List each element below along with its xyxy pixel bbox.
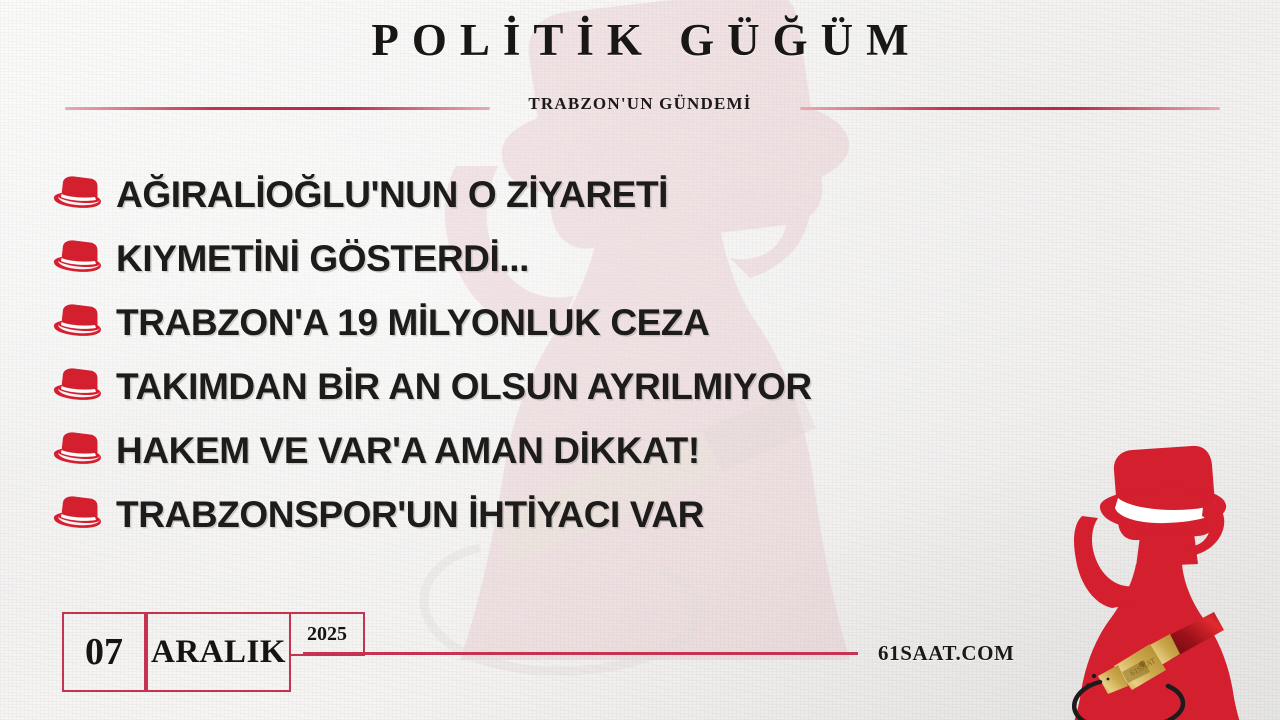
headline-text: TRABZONSPOR'UN İHTİYACI VAR — [116, 496, 704, 533]
date-year: 2025 — [289, 612, 365, 656]
headline-list: AĞIRALİOĞLU'NUN O ZİYARETİ KIYMETİNİ GÖS… — [0, 162, 1050, 546]
headline-text: AĞIRALİOĞLU'NUN O ZİYARETİ — [116, 176, 668, 213]
headline-text: KIYMETİNİ GÖSTERDİ... — [116, 240, 529, 277]
red-hat-icon — [48, 175, 104, 217]
red-hat-icon — [48, 303, 104, 345]
red-hat-icon — [48, 239, 104, 281]
poster-header: POLİTİK GÜĞÜM TRABZON'UN GÜNDEMİ — [0, 0, 1280, 135]
site-url[interactable]: 61SAAT.COM — [878, 641, 1014, 666]
headline-text: HAKEM VE VAR'A AMAN DİKKAT! — [116, 432, 700, 469]
page-subtitle: TRABZON'UN GÜNDEMİ — [0, 94, 1280, 114]
headline-text: TAKIMDAN BİR AN OLSUN AYRILMIYOR — [116, 368, 812, 405]
poster-canvas: POLİTİK GÜĞÜM TRABZON'UN GÜNDEMİ AĞIRALİ… — [0, 0, 1280, 720]
list-item[interactable]: HAKEM VE VAR'A AMAN DİKKAT! — [0, 418, 1050, 482]
headline-text: TRABZON'A 19 MİLYONLUK CEZA — [116, 304, 709, 341]
list-item[interactable]: TRABZON'A 19 MİLYONLUK CEZA — [0, 290, 1050, 354]
red-hat-icon — [48, 495, 104, 537]
subtitle-row: TRABZON'UN GÜNDEMİ — [0, 94, 1280, 124]
date-month: ARALIK — [146, 612, 291, 692]
list-item[interactable]: TRABZONSPOR'UN İHTİYACI VAR — [0, 482, 1050, 546]
red-hat-icon — [48, 431, 104, 473]
gugum-ewer-with-tophat-and-pen-logo: 61SAAT — [1052, 436, 1262, 720]
footer-divider — [303, 652, 858, 655]
ewer-body-group — [1074, 446, 1240, 720]
list-item[interactable]: KIYMETİNİ GÖSTERDİ... — [0, 226, 1050, 290]
page-title: POLİTİK GÜĞÜM — [0, 14, 1280, 66]
list-item[interactable]: TAKIMDAN BİR AN OLSUN AYRILMIYOR — [0, 354, 1050, 418]
date-day: 07 — [62, 612, 146, 692]
list-item[interactable]: AĞIRALİOĞLU'NUN O ZİYARETİ — [0, 162, 1050, 226]
red-hat-icon — [48, 367, 104, 409]
